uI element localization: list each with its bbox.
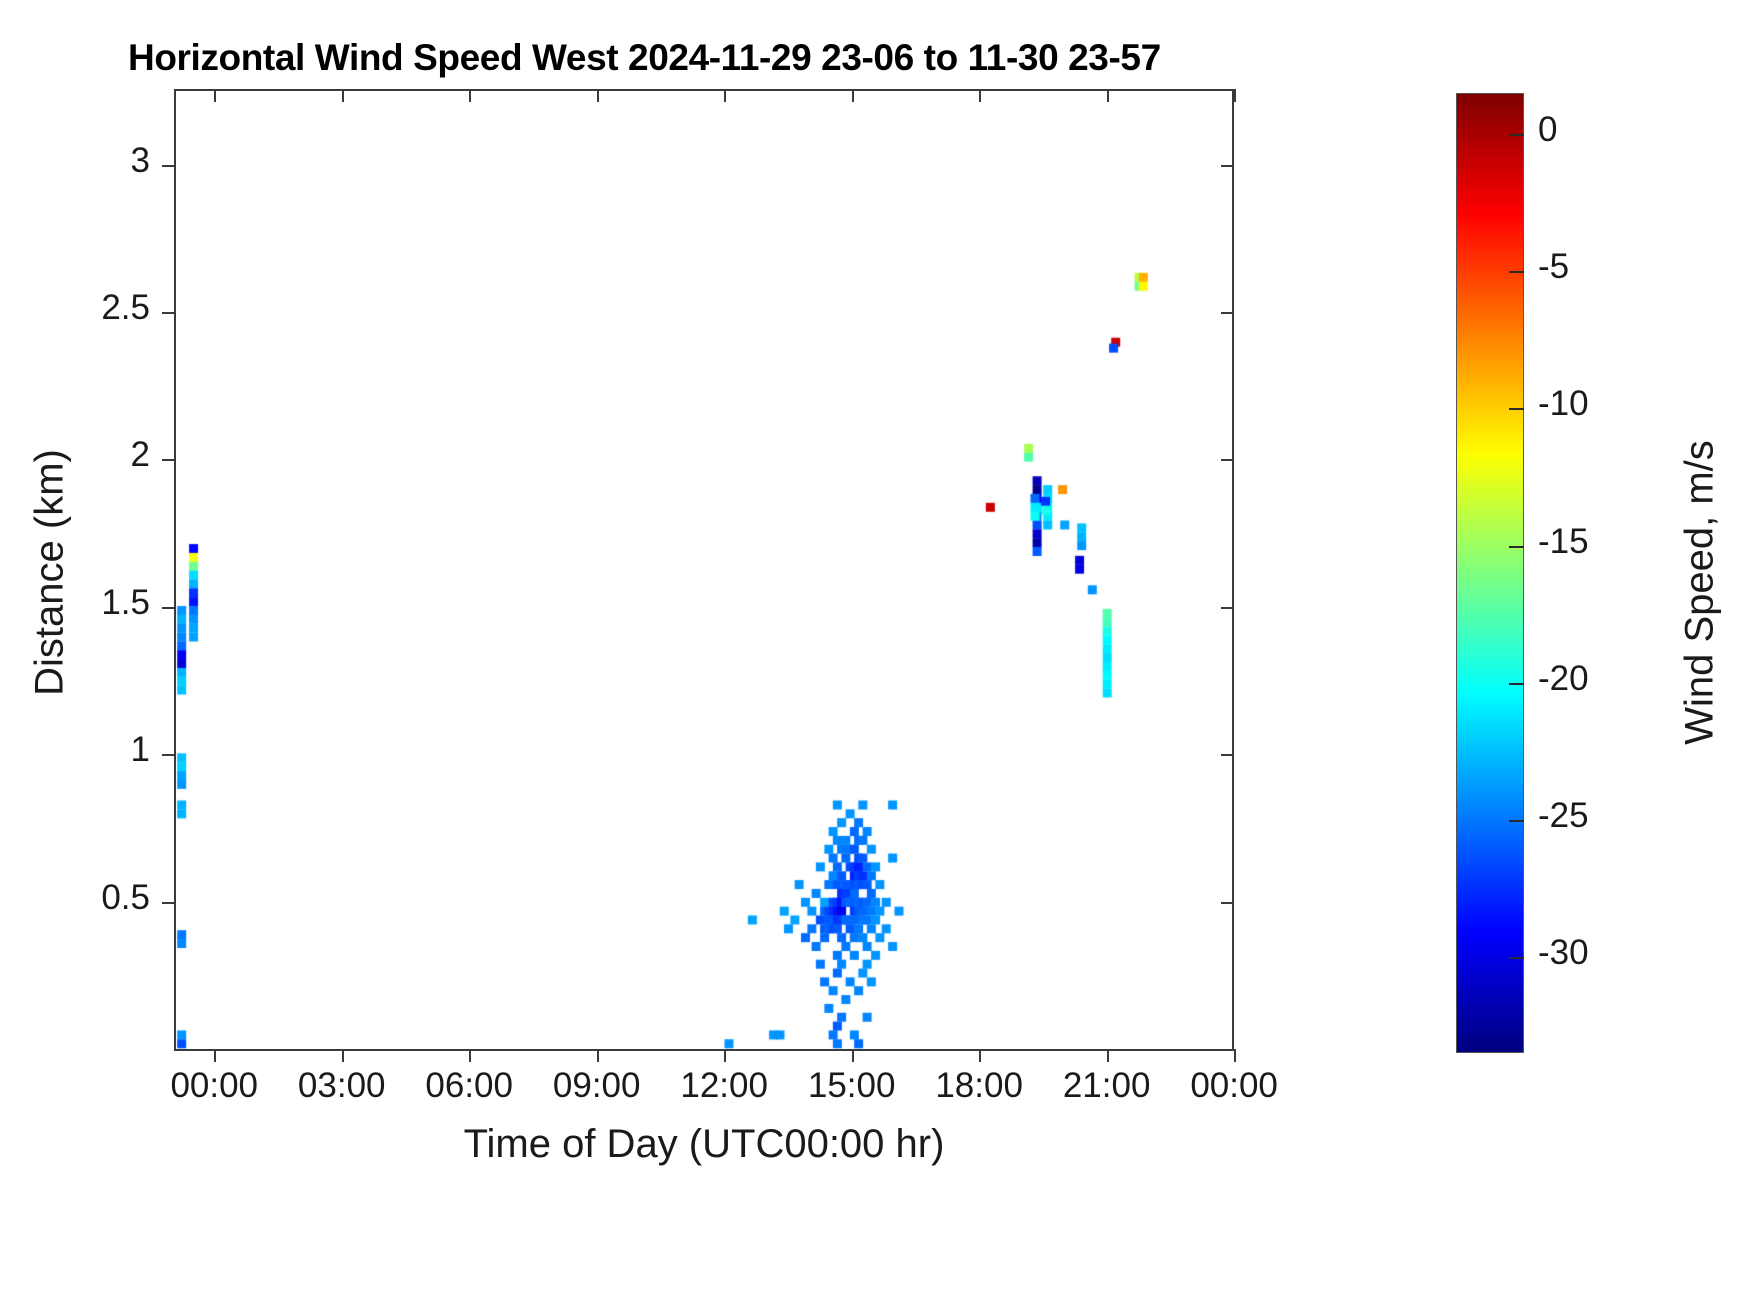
colorbar-tick-label: -10 [1538, 384, 1589, 424]
colorbar-tick-label: -30 [1538, 933, 1589, 973]
x-tick-mark-top [979, 89, 981, 102]
y-tick-label: 0.5 [0, 878, 150, 918]
y-tick-mark-right [1221, 459, 1234, 461]
x-tick-mark [597, 1049, 599, 1062]
colorbar-tick-mark [1509, 546, 1524, 548]
x-tick-mark [1234, 1049, 1236, 1062]
colorbar-tick-label: -25 [1538, 796, 1589, 836]
x-tick-mark-top [1107, 89, 1109, 102]
y-tick-mark-right [1221, 165, 1234, 167]
y-tick-label: 1.5 [0, 583, 150, 623]
y-tick-label: 2.5 [0, 288, 150, 328]
colorbar-tick-mark [1509, 683, 1524, 685]
y-tick-mark [162, 165, 175, 167]
colorbar-tick-mark [1509, 957, 1524, 959]
colorbar-label: Wind Speed, m/s [1678, 193, 1723, 993]
y-tick-label: 1 [0, 730, 150, 770]
colorbar-tick-mark [1509, 134, 1524, 136]
x-tick-mark-top [1234, 89, 1236, 102]
x-tick-mark-top [214, 89, 216, 102]
colorbar-tick-label: -15 [1538, 522, 1589, 562]
page-title: Horizontal Wind Speed West 2024-11-29 23… [128, 37, 1308, 79]
x-tick-mark-top [724, 89, 726, 102]
x-tick-mark [1107, 1049, 1109, 1062]
colorbar-tick-label: -20 [1538, 659, 1589, 699]
x-tick-mark [469, 1049, 471, 1062]
x-tick-mark-top [342, 89, 344, 102]
y-tick-mark [162, 459, 175, 461]
x-tick-mark [214, 1049, 216, 1062]
x-axis-label: Time of Day (UTC00:00 hr) [174, 1122, 1234, 1167]
colorbar [1456, 93, 1524, 1053]
x-tick-mark [979, 1049, 981, 1062]
x-tick-mark [852, 1049, 854, 1062]
colorbar-tick-mark [1509, 820, 1524, 822]
figure-canvas: Horizontal Wind Speed West 2024-11-29 23… [0, 0, 1750, 1313]
colorbar-tick-mark [1509, 408, 1524, 410]
y-tick-mark-right [1221, 607, 1234, 609]
x-tick-mark-top [469, 89, 471, 102]
x-tick-label: 00:00 [1134, 1066, 1334, 1106]
y-tick-mark-right [1221, 312, 1234, 314]
y-tick-label: 3 [0, 141, 150, 181]
colorbar-tick-label: -5 [1538, 247, 1569, 287]
y-tick-mark [162, 754, 175, 756]
y-tick-mark [162, 607, 175, 609]
colorbar-gradient [1456, 93, 1524, 1053]
y-tick-mark [162, 902, 175, 904]
y-axis-label: Distance (km) [28, 173, 73, 973]
colorbar-tick-label: 0 [1538, 110, 1557, 150]
plot-axes [174, 89, 1234, 1051]
scatter-data-layer [176, 91, 1232, 1049]
x-tick-mark [724, 1049, 726, 1062]
x-tick-mark [342, 1049, 344, 1062]
x-tick-mark-top [597, 89, 599, 102]
y-tick-mark [162, 312, 175, 314]
y-tick-label: 2 [0, 435, 150, 475]
x-tick-mark-top [852, 89, 854, 102]
y-tick-mark-right [1221, 902, 1234, 904]
colorbar-tick-mark [1509, 271, 1524, 273]
y-tick-mark-right [1221, 754, 1234, 756]
